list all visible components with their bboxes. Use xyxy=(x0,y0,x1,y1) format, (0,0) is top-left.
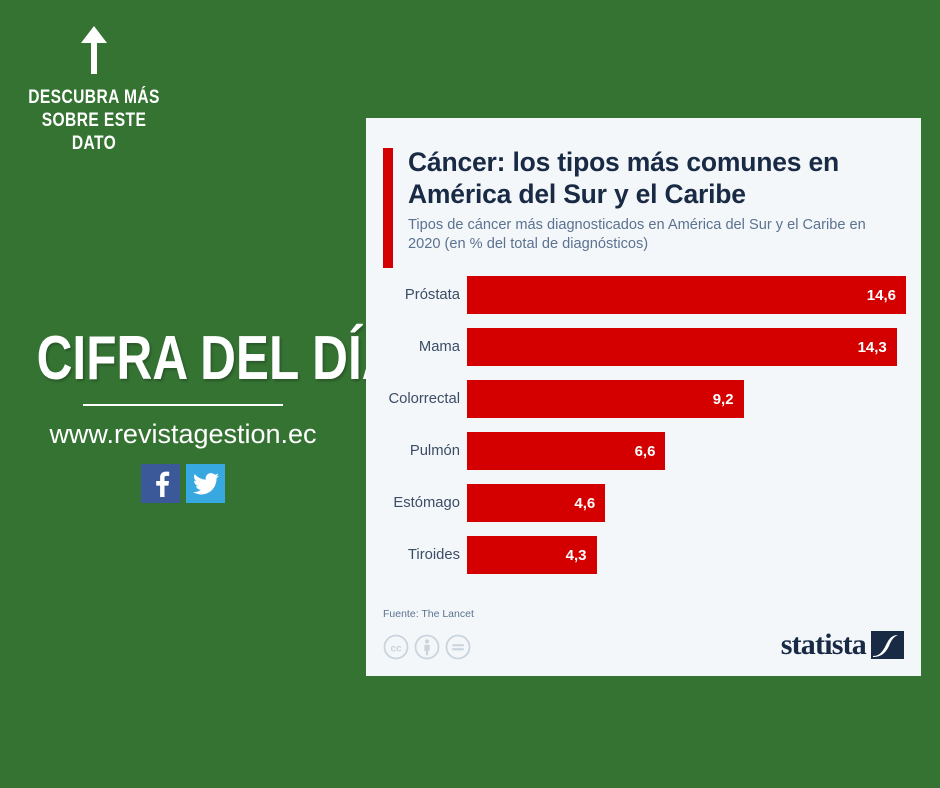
bar-category-label: Mama xyxy=(366,338,467,356)
svg-text:cc: cc xyxy=(390,644,402,655)
bar-category-label: Próstata xyxy=(366,286,467,304)
bar-fill[interactable]: 14,6 xyxy=(467,276,906,314)
bar-fill[interactable]: 4,6 xyxy=(467,484,605,522)
bar-category-label: Pulmón xyxy=(366,442,467,460)
footer-row: cc statista xyxy=(383,630,904,660)
bar-track: 9,2 xyxy=(467,380,906,418)
chart-subtitle: Tipos de cáncer más diagnosticados en Am… xyxy=(408,216,897,254)
twitter-link[interactable] xyxy=(186,464,225,503)
bar-category-label: Colorrectal xyxy=(366,390,467,408)
card-header: Cáncer: los tipos más comunes en América… xyxy=(366,118,921,254)
statista-infographic-card: Cáncer: los tipos más comunes en América… xyxy=(366,118,921,676)
brand-block: CIFRA DEL DÍA www.revistagestion.ec xyxy=(0,328,366,503)
bar-fill[interactable]: 9,2 xyxy=(467,380,744,418)
bar-row: Mama 14,3 xyxy=(366,328,906,366)
statista-wordmark: statista xyxy=(781,630,866,660)
bar-value-label: 9,2 xyxy=(713,391,744,408)
brand-divider xyxy=(83,404,283,406)
bar-row: Tiroides 4,3 xyxy=(366,536,906,574)
card-footer: Fuente: The Lancet cc s xyxy=(366,608,921,676)
bar-chart-plot: Próstata 14,6 Mama 14,3 Colorrectal 9,2 xyxy=(366,276,921,574)
bar-track: 6,6 xyxy=(467,432,906,470)
bar-fill[interactable]: 14,3 xyxy=(467,328,897,366)
discover-more-block: DESCUBRA MÁS SOBRE ESTE DATO xyxy=(0,24,188,155)
bar-category-label: Tiroides xyxy=(366,546,467,564)
arrow-up-icon xyxy=(0,24,188,76)
bar-track: 4,6 xyxy=(467,484,906,522)
social-links-row xyxy=(0,464,366,503)
bar-value-label: 14,3 xyxy=(858,339,897,356)
chart-title: Cáncer: los tipos más comunes en América… xyxy=(408,146,897,210)
brand-website-url[interactable]: www.revistagestion.ec xyxy=(0,418,366,450)
bar-category-label: Estómago xyxy=(366,494,467,512)
title-accent-bar xyxy=(383,148,393,268)
statista-swoosh-icon xyxy=(871,631,904,659)
facebook-icon xyxy=(150,471,172,497)
bar-row: Pulmón 6,6 xyxy=(366,432,906,470)
source-note: Fuente: The Lancet xyxy=(383,608,904,620)
bar-row: Próstata 14,6 xyxy=(366,276,906,314)
bar-value-label: 4,6 xyxy=(574,495,605,512)
bar-track: 4,3 xyxy=(467,536,906,574)
bar-track: 14,6 xyxy=(467,276,906,314)
bar-fill[interactable]: 4,3 xyxy=(467,536,597,574)
cc-nd-equals-icon[interactable] xyxy=(445,634,471,660)
cc-by-person-icon[interactable] xyxy=(414,634,440,660)
bar-value-label: 14,6 xyxy=(867,287,906,304)
promo-panel: DESCUBRA MÁS SOBRE ESTE DATO CIFRA DEL D… xyxy=(0,0,366,788)
bar-row: Colorrectal 9,2 xyxy=(366,380,906,418)
cc-icon[interactable]: cc xyxy=(383,634,409,660)
bar-value-label: 4,3 xyxy=(566,547,597,564)
bar-row: Estómago 4,6 xyxy=(366,484,906,522)
bar-track: 14,3 xyxy=(467,328,906,366)
twitter-icon xyxy=(193,473,219,495)
brand-title: CIFRA DEL DÍA xyxy=(37,328,330,390)
statista-logo[interactable]: statista xyxy=(781,630,904,660)
creative-commons-icons: cc xyxy=(383,634,471,660)
bar-fill[interactable]: 6,6 xyxy=(467,432,665,470)
bar-value-label: 6,6 xyxy=(635,443,666,460)
facebook-link[interactable] xyxy=(141,464,180,503)
discover-more-text: DESCUBRA MÁS SOBRE ESTE DATO xyxy=(17,86,171,155)
